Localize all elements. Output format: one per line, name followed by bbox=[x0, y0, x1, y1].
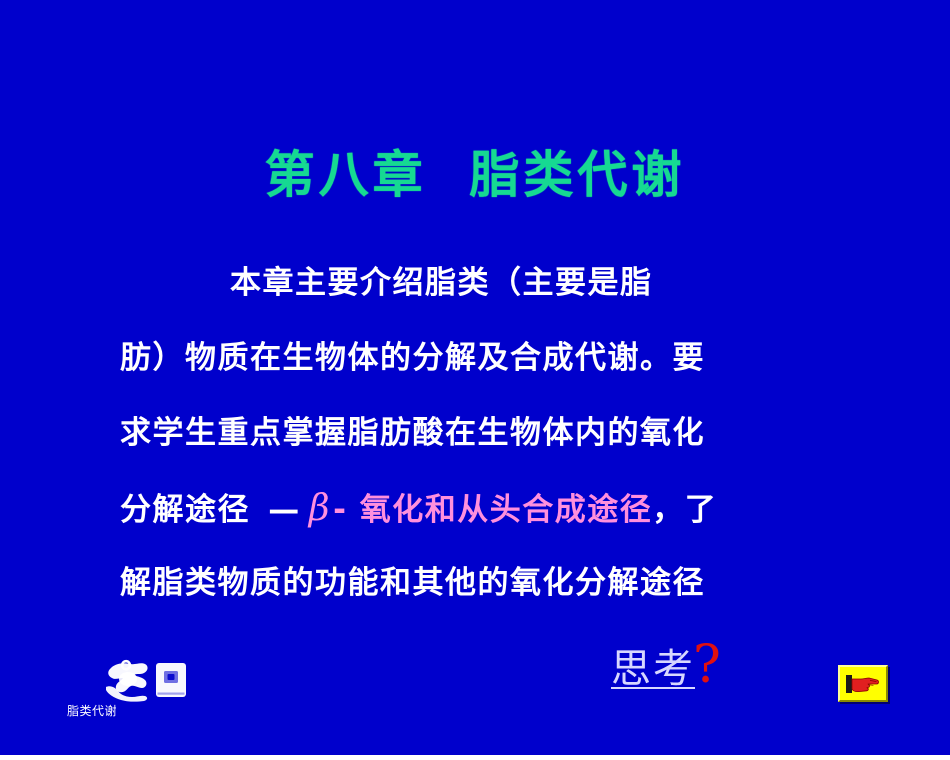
return-button[interactable] bbox=[104, 659, 190, 703]
footer-label: 脂类代谢 bbox=[67, 702, 117, 719]
think-label[interactable]: 思考 bbox=[611, 636, 695, 694]
body-line: 肪）物质在生物体的分解及合成代谢。要 bbox=[120, 321, 860, 396]
next-slide-action-button[interactable] bbox=[838, 665, 888, 702]
body-line-text: 求学生重点掌握脂肪酸在生物体内的氧化 bbox=[120, 415, 705, 451]
presentation-slide: 第八章 脂类代谢 本章主要介绍脂类（主要是脂 肪）物质在生物体的分解及合成代谢。… bbox=[0, 0, 950, 760]
body-line: 。 bbox=[120, 621, 860, 696]
question-mark-icon: ? bbox=[693, 642, 721, 689]
body-segment-plain-tail: ，了 bbox=[652, 492, 717, 528]
page-title: 第八章 脂类代谢 bbox=[0, 148, 950, 203]
body-segment-dash: — bbox=[262, 492, 307, 528]
body-line-text: 肪）物质在生物体的分解及合成代谢。要 bbox=[120, 340, 705, 376]
body-line: 分解途径 —β- 氧化和从头合成途径，了 bbox=[120, 471, 860, 546]
body-segment-highlight: - 氧化和从头合成途径 bbox=[333, 492, 652, 528]
body-line-text: 本章主要介绍脂类（主要是脂 bbox=[230, 265, 653, 301]
slide-body-text: 本章主要介绍脂类（主要是脂 肪）物质在生物体的分解及合成代谢。要 求学生重点掌握… bbox=[120, 246, 860, 696]
body-line-text: 解脂类物质的功能和其他的氧化分解途径 bbox=[120, 565, 705, 601]
body-line: 求学生重点掌握脂肪酸在生物体内的氧化 bbox=[120, 396, 860, 471]
body-line: 解脂类物质的功能和其他的氧化分解途径 bbox=[120, 546, 860, 621]
think-hyperlink[interactable]: 思考 ? bbox=[611, 636, 721, 694]
return-glyph-icon bbox=[104, 659, 190, 703]
body-line: 本章主要介绍脂类（主要是脂 bbox=[120, 246, 860, 321]
beta-symbol: β bbox=[307, 488, 333, 529]
body-segment-plain: 分解途径 bbox=[120, 492, 262, 528]
pointing-hand-icon bbox=[846, 673, 880, 695]
slide-bottom-strip bbox=[0, 755, 950, 760]
